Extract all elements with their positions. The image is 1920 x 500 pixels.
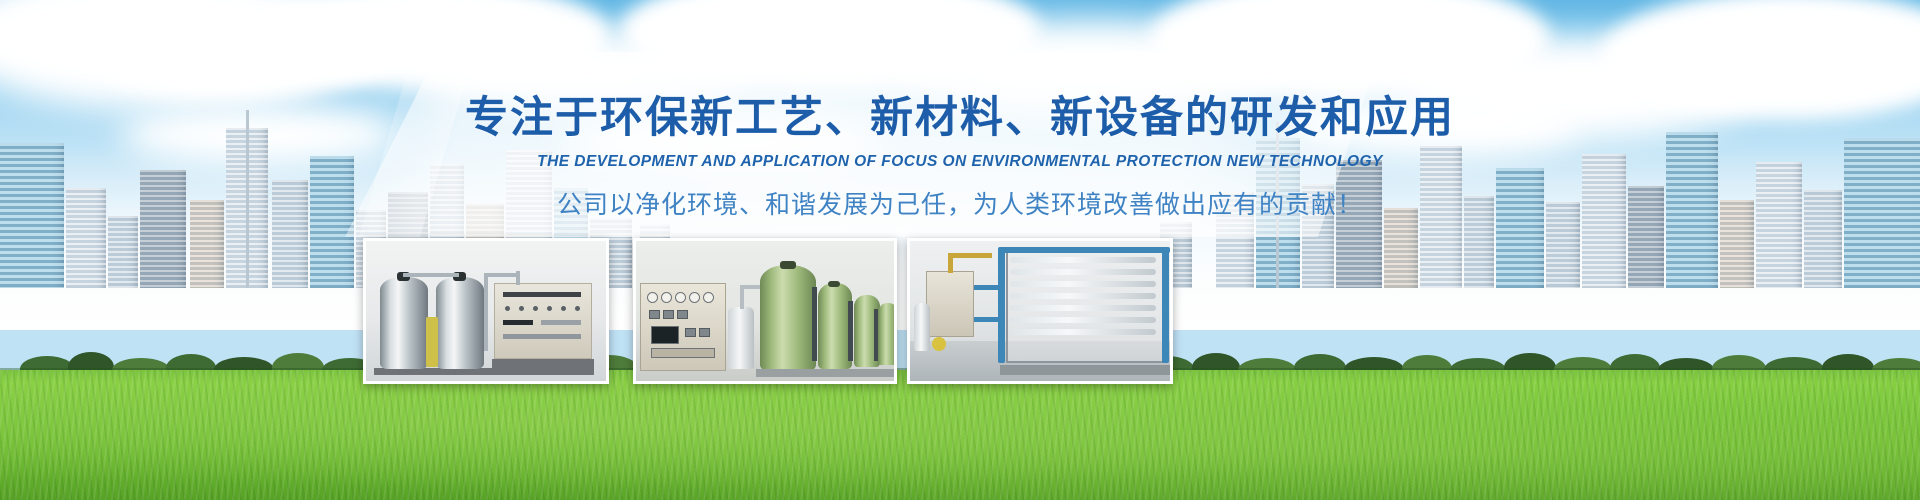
control-panel xyxy=(926,271,974,337)
yellow-drum xyxy=(426,317,438,367)
frp-tank xyxy=(878,303,897,365)
photo-1-scene xyxy=(366,241,606,381)
white-tank xyxy=(728,307,754,369)
tank-cap xyxy=(828,281,840,287)
ro-membrane-vessel xyxy=(1010,281,1156,287)
photo-3-scene xyxy=(910,241,1170,381)
valve-stack xyxy=(812,287,817,361)
display xyxy=(503,320,533,325)
control-cabinet xyxy=(640,283,726,371)
gauge xyxy=(547,306,552,311)
button xyxy=(685,328,696,337)
photo-thumbnail-ro-plant[interactable] xyxy=(907,238,1173,384)
panel-bar xyxy=(541,320,581,325)
banner-subheadline: THE DEVELOPMENT AND APPLICATION OF FOCUS… xyxy=(0,153,1920,171)
valve-wheel xyxy=(932,337,946,351)
banner-text-block: 专注于环保新工艺、新材料、新设备的研发和应用 THE DEVELOPMENT A… xyxy=(0,96,1920,221)
panel-bar xyxy=(503,334,581,339)
gauge xyxy=(561,306,566,311)
valve-stack xyxy=(848,301,853,361)
grass-field xyxy=(0,370,1920,500)
gauge xyxy=(703,292,714,303)
blue-pipe xyxy=(998,247,1170,253)
ro-membrane-vessel xyxy=(1010,317,1156,323)
gauge xyxy=(533,306,538,311)
ro-membrane-vessel xyxy=(1010,269,1156,275)
button xyxy=(677,310,688,319)
gauge xyxy=(575,306,580,311)
gauge xyxy=(661,292,672,303)
hero-banner: 专注于环保新工艺、新材料、新设备的研发和应用 THE DEVELOPMENT A… xyxy=(0,0,1920,500)
photo-thumbnail-green-frp-tanks[interactable] xyxy=(633,238,897,384)
ro-membrane-vessel xyxy=(1010,329,1156,335)
ro-membrane-vessel xyxy=(1010,293,1156,299)
skid-base xyxy=(492,359,594,375)
blue-pipe xyxy=(1162,251,1169,363)
skid-base xyxy=(1000,365,1170,375)
ro-membrane-vessel xyxy=(1010,257,1156,263)
tank-base xyxy=(374,368,492,375)
button xyxy=(649,310,660,319)
photo-2-scene xyxy=(636,241,894,381)
frp-tank xyxy=(818,283,852,369)
pipe xyxy=(740,287,744,309)
yellow-pipe xyxy=(948,257,953,273)
banner-headline: 专注于环保新工艺、新材料、新设备的研发和应用 xyxy=(0,96,1920,141)
gauge xyxy=(519,306,524,311)
blue-pipe xyxy=(970,285,1004,290)
control-panel xyxy=(494,283,592,359)
tank-cap xyxy=(780,261,796,269)
photo-thumbnail-stainless-tanks[interactable] xyxy=(363,238,609,384)
pipe xyxy=(516,271,520,285)
banner-tagline: 公司以净化环境、和谐发展为己任，为人类环境改善做出应有的贡献！ xyxy=(0,185,1920,221)
button xyxy=(699,328,710,337)
valve-stack xyxy=(874,309,878,361)
gauge xyxy=(675,292,686,303)
blue-pipe xyxy=(970,317,1004,322)
button xyxy=(663,310,674,319)
stainless-tank xyxy=(380,277,428,369)
display xyxy=(651,326,679,344)
label-strip xyxy=(651,348,715,358)
pipe xyxy=(403,273,459,277)
yellow-pipe xyxy=(948,253,992,258)
photo-strip xyxy=(363,238,1173,384)
gauge xyxy=(689,292,700,303)
panel-bar xyxy=(503,292,581,297)
stainless-tank xyxy=(436,277,484,369)
ro-membrane-vessel xyxy=(1010,305,1156,311)
gauge xyxy=(505,306,510,311)
gauge xyxy=(647,292,658,303)
building xyxy=(108,216,138,288)
pump-housing xyxy=(914,303,930,351)
pipe xyxy=(484,273,488,351)
blue-pipe xyxy=(998,251,1005,363)
frp-tank xyxy=(760,265,816,371)
floor-rail xyxy=(756,369,897,377)
pipe xyxy=(484,273,520,277)
